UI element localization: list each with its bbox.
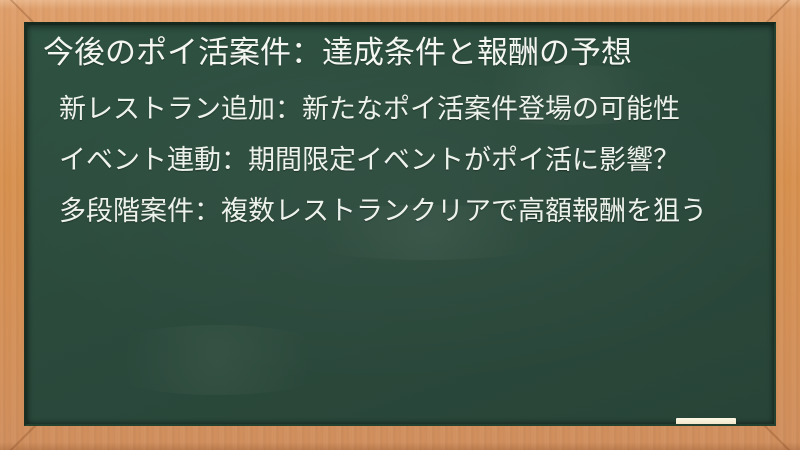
chalk-dust-smudge [87,325,347,395]
bullet-item-1: 新レストラン追加：新たなポイ活案件登場の可能性 [59,92,757,129]
bullet-item-3: 多段階案件：複数レストランクリアで高額報酬を狙う [59,194,757,231]
chalkboard-slide: 今後のポイ活案件：達成条件と報酬の予想 新レストラン追加：新たなポイ活案件登場の… [0,0,800,450]
frame-bottom-shadow [0,442,800,450]
chalkboard-surface: 今後のポイ活案件：達成条件と報酬の予想 新レストラン追加：新たなポイ活案件登場の… [24,22,776,426]
slide-title: 今後のポイ活案件：達成条件と報酬の予想 [39,33,757,74]
chalk-stick [676,418,736,426]
bullet-item-2: イベント連動：期間限定イベントがポイ活に影響？ [59,143,757,180]
slide-bullet-list: 新レストラン追加：新たなポイ活案件登場の可能性 イベント連動：期間限定イベントが… [39,92,757,231]
frame-top-highlight [0,0,800,9]
slide-content: 今後のポイ活案件：達成条件と報酬の予想 新レストラン追加：新たなポイ活案件登場の… [27,25,776,231]
